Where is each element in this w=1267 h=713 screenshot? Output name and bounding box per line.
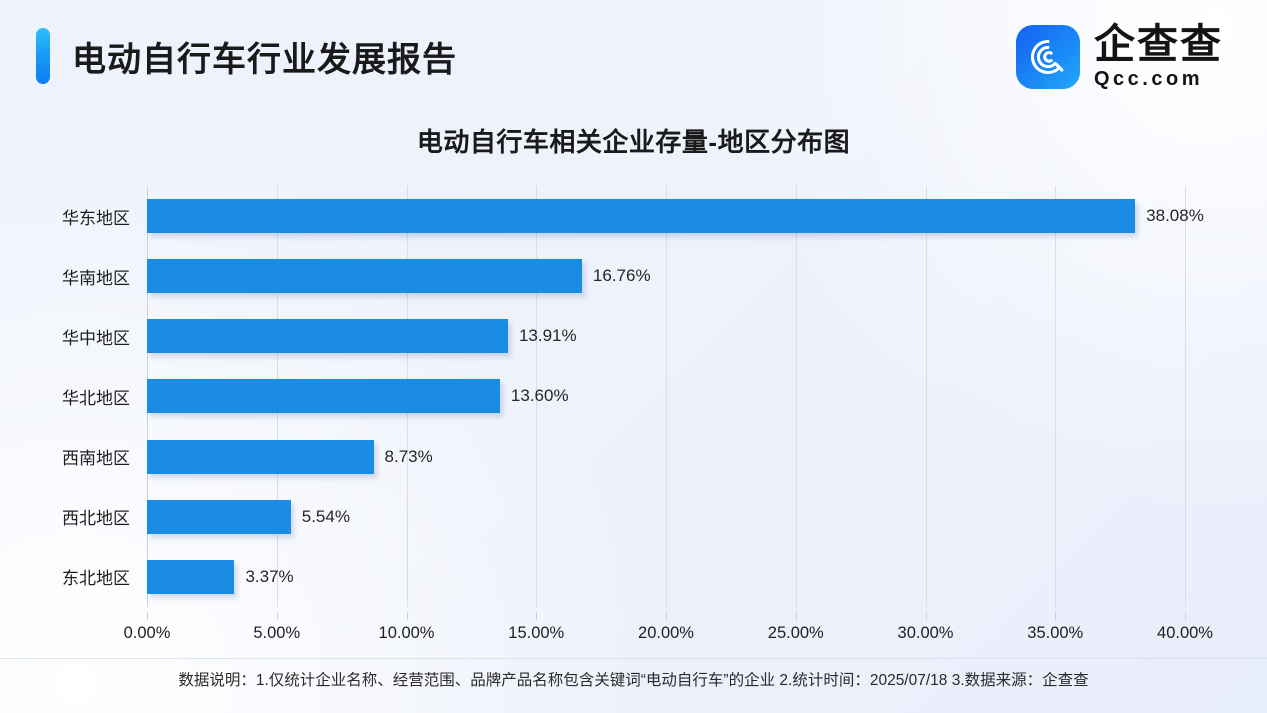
bar-row[interactable]: 华北地区13.60% — [0, 366, 1267, 426]
category-label: 西北地区 — [0, 504, 130, 529]
bar-value-label: 38.08% — [1146, 206, 1204, 226]
bar-holder: 3.37% — [147, 547, 294, 607]
bar[interactable] — [147, 560, 234, 594]
x-axis: 0.00%5.00%10.00%15.00%20.00%25.00%30.00%… — [0, 612, 1267, 650]
x-tick-label: 0.00% — [124, 624, 171, 643]
bar-value-label: 16.76% — [593, 266, 651, 286]
category-label: 华南地区 — [0, 264, 130, 289]
bar[interactable] — [147, 500, 291, 534]
x-tick-mark — [1185, 612, 1186, 620]
chart-title: 电动自行车相关企业存量-地区分布图 — [0, 122, 1267, 159]
bar-row[interactable]: 华东地区38.08% — [0, 186, 1267, 246]
x-tick-label: 15.00% — [508, 624, 564, 643]
bar[interactable] — [147, 259, 582, 293]
qcc-target-logo-icon — [1016, 25, 1080, 89]
report-page: 电动自行车行业发展报告 企查查 Qcc.com 电动自行车相关企业存量-地区分布… — [0, 0, 1267, 713]
footer-divider — [0, 658, 1267, 659]
x-tick-mark — [147, 612, 148, 620]
page-title: 电动自行车行业发展报告 — [72, 32, 457, 81]
bar-holder: 13.91% — [147, 306, 577, 366]
bar-value-label: 5.54% — [302, 507, 350, 527]
bar-holder: 5.54% — [147, 487, 350, 547]
footer-note: 数据说明：1.仅统计企业名称、经营范围、品牌产品名称包含关键词“电动自行车”的企… — [0, 668, 1267, 690]
x-tick-mark — [277, 612, 278, 620]
x-tick-label: 5.00% — [253, 624, 300, 643]
category-label: 华中地区 — [0, 324, 130, 349]
bar-value-label: 8.73% — [385, 447, 433, 467]
x-tick-mark — [666, 612, 667, 620]
x-tick-label: 35.00% — [1027, 624, 1083, 643]
bar-chart: 华东地区38.08%华南地区16.76%华中地区13.91%华北地区13.60%… — [0, 180, 1267, 650]
brand-text: 企查查 Qcc.com — [1094, 24, 1223, 89]
bar-row[interactable]: 华中地区13.91% — [0, 306, 1267, 366]
bar-row[interactable]: 华南地区16.76% — [0, 246, 1267, 306]
x-tick-mark — [536, 612, 537, 620]
x-tick-label: 10.00% — [379, 624, 435, 643]
bar-holder: 13.60% — [147, 366, 569, 426]
x-tick-mark — [1055, 612, 1056, 620]
x-tick-label: 25.00% — [768, 624, 824, 643]
title-block: 电动自行车行业发展报告 — [36, 28, 457, 84]
bar[interactable] — [147, 379, 500, 413]
bar-value-label: 3.37% — [245, 567, 293, 587]
bar-holder: 8.73% — [147, 427, 433, 487]
x-tick-label: 20.00% — [638, 624, 694, 643]
page-header: 电动自行车行业发展报告 企查查 Qcc.com — [0, 0, 1267, 110]
bar-row[interactable]: 西北地区5.54% — [0, 487, 1267, 547]
bar-rows: 华东地区38.08%华南地区16.76%华中地区13.91%华北地区13.60%… — [0, 186, 1267, 607]
bar[interactable] — [147, 319, 508, 353]
category-label: 东北地区 — [0, 564, 130, 589]
brand-name-cn: 企查查 — [1094, 24, 1223, 65]
x-tick-mark — [796, 612, 797, 620]
bar-row[interactable]: 西南地区8.73% — [0, 427, 1267, 487]
bar-value-label: 13.91% — [519, 326, 577, 346]
x-tick-label: 30.00% — [898, 624, 954, 643]
x-tick-mark — [926, 612, 927, 620]
bar[interactable] — [147, 440, 374, 474]
accent-bar-icon — [36, 28, 50, 84]
bar-row[interactable]: 东北地区3.37% — [0, 547, 1267, 607]
brand-logo: 企查查 Qcc.com — [1016, 24, 1223, 89]
brand-name-en: Qcc.com — [1094, 69, 1223, 89]
category-label: 华东地区 — [0, 204, 130, 229]
bar-holder: 38.08% — [147, 186, 1204, 246]
bar-holder: 16.76% — [147, 246, 651, 306]
category-label: 西南地区 — [0, 444, 130, 469]
x-tick-label: 40.00% — [1157, 624, 1213, 643]
x-tick-mark — [407, 612, 408, 620]
category-label: 华北地区 — [0, 384, 130, 409]
bar[interactable] — [147, 199, 1135, 233]
bar-value-label: 13.60% — [511, 386, 569, 406]
